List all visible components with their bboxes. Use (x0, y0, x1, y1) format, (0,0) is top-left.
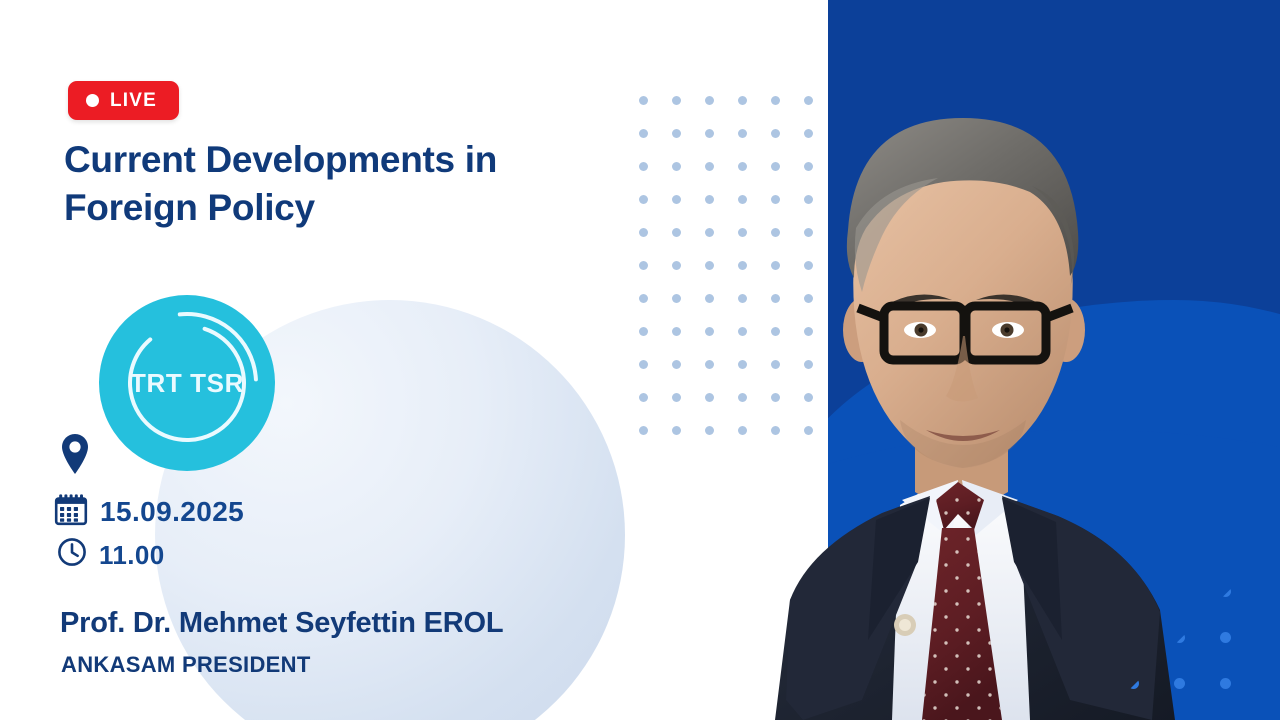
trt-tsr-logo: TRT TSR (99, 295, 275, 471)
location-pin-icon (60, 433, 90, 480)
event-time: 11.00 (99, 542, 165, 568)
headline-line-1: Current Developments in (64, 136, 604, 184)
grid-dot (1174, 678, 1185, 689)
event-time-row: 11.00 (57, 537, 165, 572)
event-date: 15.09.2025 (100, 498, 244, 526)
live-badge[interactable]: LIVE (68, 81, 179, 120)
logo-label: TRT TSR (130, 368, 244, 399)
grid-dot (1220, 632, 1231, 643)
grid-dot (1220, 678, 1231, 689)
speaker-portrait-illustration (600, 0, 1280, 720)
clock-icon (57, 537, 87, 572)
event-date-row: 15.09.2025 (54, 492, 244, 531)
headline-line-2: Foreign Policy (64, 184, 604, 232)
live-broadcast-card: LIVE Current Developments in Foreign Pol… (0, 0, 1280, 720)
live-badge-label: LIVE (110, 91, 157, 110)
speaker-name: Prof. Dr. Mehmet Seyfettin EROL (60, 607, 503, 640)
live-dot-icon (86, 94, 99, 107)
speaker-title: ANKASAM PRESIDENT (61, 652, 311, 678)
calendar-icon (54, 492, 88, 531)
card-content: LIVE Current Developments in Foreign Pol… (0, 0, 620, 720)
speaker-photo (600, 0, 1280, 720)
page-title: Current Developments in Foreign Policy (64, 136, 604, 232)
